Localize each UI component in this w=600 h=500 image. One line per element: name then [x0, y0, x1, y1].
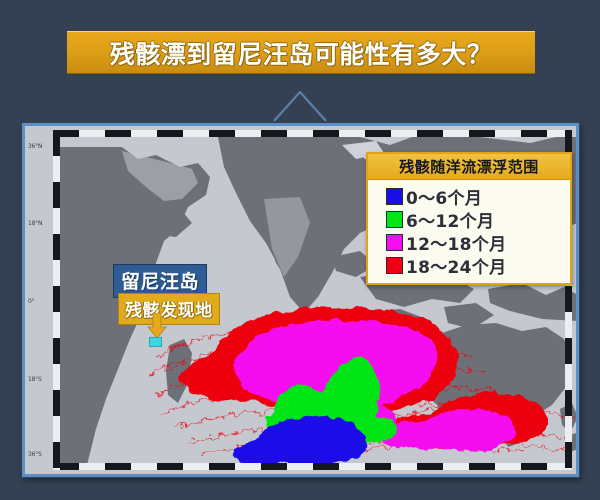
legend-item-12-18[interactable]: 12～18个月 — [386, 231, 570, 254]
chevron-up-icon — [270, 88, 330, 122]
legend-item-18-24[interactable]: 18～24个月 — [386, 254, 570, 277]
page-title: 残骸漂到留尼汪岛可能性有多大？ — [110, 35, 493, 71]
legend-swatch-6-12 — [386, 211, 403, 228]
legend-swatch-18-24 — [386, 257, 403, 274]
screenshot-root: 残骸漂到留尼汪岛可能性有多大？ — [0, 0, 600, 500]
legend-label-0-6: 0～6个月 — [406, 184, 482, 209]
legend-label-18-24: 18～24个月 — [406, 253, 506, 278]
legend-header: 残骸随洋流漂浮范围 — [368, 154, 570, 180]
lat-label-36s: 36°S — [28, 451, 42, 458]
debris-location-dot — [149, 337, 162, 347]
callout-debris-site: 残骸发现地 — [118, 293, 220, 325]
map-tick-bar-top — [53, 130, 572, 137]
legend-body: 0～6个月 6～12个月 12～18个月 18～24个月 — [368, 180, 570, 283]
legend-swatch-12-18 — [386, 234, 403, 251]
page-title-banner: 残骸漂到留尼汪岛可能性有多大？ — [67, 31, 535, 74]
callout-reunion-island-label: 留尼汪岛 — [121, 271, 199, 293]
lat-label-0: 0° — [28, 298, 34, 305]
legend-panel: 残骸随洋流漂浮范围 0～6个月 6～12个月 12～18个月 18～24个月 — [366, 152, 572, 285]
legend-label-12-18: 12～18个月 — [406, 230, 506, 255]
callout-debris-site-label: 残骸发现地 — [125, 301, 213, 321]
legend-swatch-0-6 — [386, 188, 403, 205]
lat-label-18n: 18°N — [28, 220, 42, 227]
lat-label-36n: 36°N — [28, 143, 42, 150]
location-arrow-icon — [147, 313, 167, 339]
map-tick-bar-bottom — [53, 463, 572, 470]
map-tick-bar-left — [53, 130, 60, 470]
legend-title: 残骸随洋流漂浮范围 — [399, 156, 539, 177]
legend-item-6-12[interactable]: 6～12个月 — [386, 208, 570, 231]
legend-item-0-6[interactable]: 0～6个月 — [386, 185, 570, 208]
legend-label-6-12: 6～12个月 — [406, 207, 494, 232]
lat-label-18s: 18°S — [28, 376, 42, 383]
